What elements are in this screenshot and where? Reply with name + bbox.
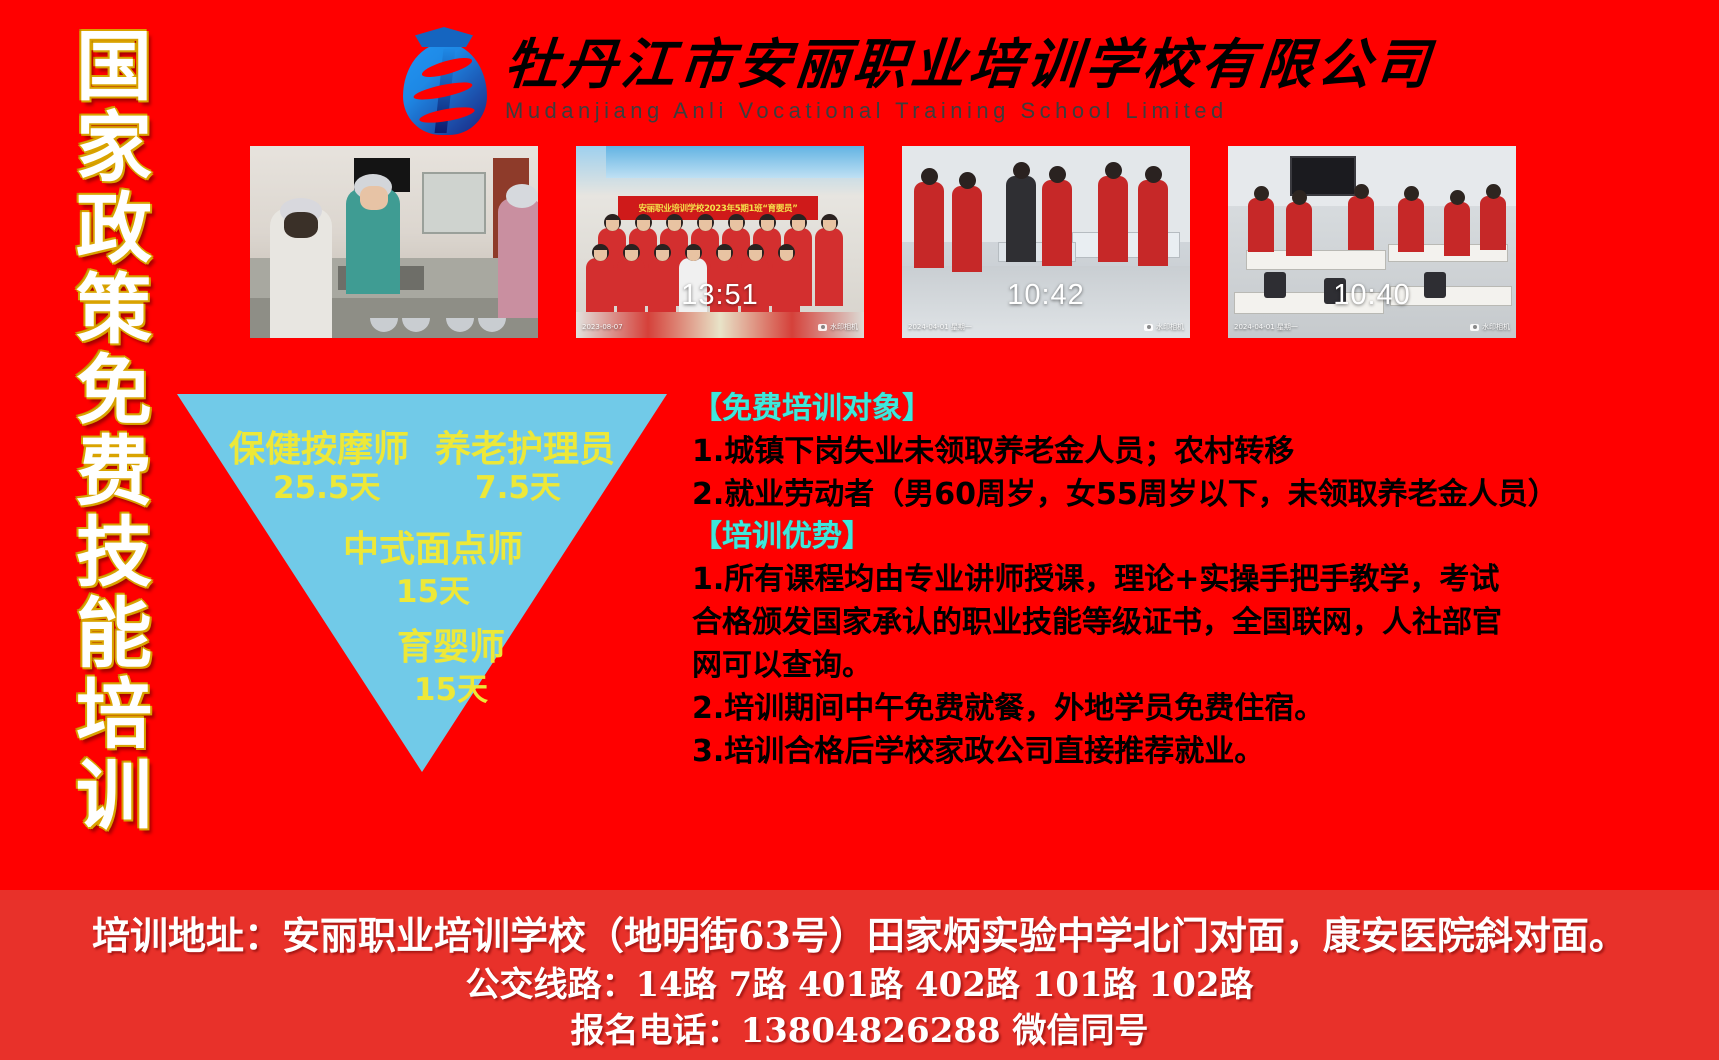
company-name-en: Mudanjiang Anli Vocational Training Scho… bbox=[505, 97, 1433, 125]
course-name-infantcare: 育婴师 bbox=[177, 618, 667, 670]
section-title-advantages: 【培训优势】 bbox=[692, 516, 1520, 558]
pastry-class-photo bbox=[250, 146, 538, 338]
info-column: 【免费培训对象】 1.城镇下岗失业未领取养老金人员；农村转移 2.就业劳动者（男… bbox=[692, 388, 1520, 773]
contact-footer: 培训地址：安丽职业培训学校（地明街63号）田家炳实验中学北门对面，康安医院斜对面… bbox=[0, 890, 1719, 1060]
course-days-pastry: 15天 bbox=[177, 566, 667, 611]
photo-strip: 安丽职业培训学校2023年5期1班“育婴员” 13:51 2023-08-07 … bbox=[250, 146, 1540, 338]
course-days-infantcare: 15天 bbox=[177, 664, 667, 709]
advantage-item-2: 2.培训期间中午免费就餐，外地学员免费住宿。 bbox=[692, 687, 1520, 730]
vertical-title-char: 能 bbox=[76, 593, 152, 674]
camera-icon bbox=[1144, 324, 1153, 331]
vertical-title-char: 家 bbox=[76, 107, 152, 188]
eligibility-item-1: 1.城镇下岗失业未领取养老金人员；农村转移 bbox=[692, 430, 1520, 473]
poster-root: 国 家 政 策 免 费 技 能 培 训 牡丹江市安丽职业培训学校有限公司 Mud… bbox=[0, 0, 1719, 1060]
photo-timestamp: 10:40 bbox=[1228, 279, 1516, 312]
course-triangle: 保健按摩师 养老护理员 25.5天 7.5天 中式面点师 15天 育婴师 15天 bbox=[177, 394, 667, 772]
vertical-title-char: 培 bbox=[76, 674, 152, 755]
graduation-cap-logo-icon bbox=[395, 23, 495, 135]
camera-icon bbox=[818, 324, 827, 331]
bus-routes: 公交线路：14路 7路 401路 402路 101路 102路 bbox=[0, 962, 1719, 1008]
vertical-title-char: 免 bbox=[76, 350, 152, 431]
advantage-item-1: 1.所有课程均由专业讲师授课，理论+实操手把手教学，考试合格颁发国家承认的职业技… bbox=[692, 558, 1520, 687]
photo-watermark: 2024-04-01 星期一 水印相机 bbox=[1234, 322, 1510, 332]
watermark-brand-block: 水印相机 bbox=[818, 322, 858, 332]
watermark-brand: 水印相机 bbox=[1482, 322, 1510, 332]
photo-watermark: 2024-04-01 星期一 水印相机 bbox=[908, 322, 1184, 332]
vertical-title-char: 政 bbox=[76, 188, 152, 269]
photo-timestamp: 10:42 bbox=[902, 279, 1190, 312]
course-days-massage: 25.5天 bbox=[273, 462, 381, 507]
enrollment-phone: 报名电话：13804826288 微信同号 bbox=[0, 1008, 1719, 1054]
vertical-title-char: 费 bbox=[76, 431, 152, 512]
course-name-pastry: 中式面点师 bbox=[177, 520, 667, 572]
camera-icon bbox=[1470, 324, 1479, 331]
nursing-practice-photo: 10:42 2024-04-01 星期一 水印相机 bbox=[902, 146, 1190, 338]
vertical-title: 国 家 政 策 免 费 技 能 培 训 bbox=[62, 26, 166, 756]
vertical-title-char: 国 bbox=[76, 26, 152, 107]
group-photo-2023-class: 安丽职业培训学校2023年5期1班“育婴员” 13:51 2023-08-07 … bbox=[576, 146, 864, 338]
course-row-top: 保健按摩师 养老护理员 bbox=[177, 420, 667, 472]
watermark-date: 2023-08-07 bbox=[582, 323, 623, 331]
classroom-lecture-photo: 10:40 2024-04-01 星期一 水印相机 bbox=[1228, 146, 1516, 338]
section-title-eligibility: 【免费培训对象】 bbox=[692, 388, 1520, 430]
header: 牡丹江市安丽职业培训学校有限公司 Mudanjiang Anli Vocatio… bbox=[395, 18, 1315, 140]
vertical-title-char: 技 bbox=[76, 512, 152, 593]
photo-watermark: 2023-08-07 水印相机 bbox=[582, 322, 858, 332]
watermark-brand-block: 水印相机 bbox=[1470, 322, 1510, 332]
vertical-title-char: 策 bbox=[76, 269, 152, 350]
triangle-text-layer: 保健按摩师 养老护理员 25.5天 7.5天 中式面点师 15天 育婴师 15天 bbox=[177, 394, 667, 772]
company-name-block: 牡丹江市安丽职业培训学校有限公司 Mudanjiang Anli Vocatio… bbox=[505, 33, 1433, 125]
watermark-date: 2024-04-01 星期一 bbox=[908, 322, 972, 332]
eligibility-item-2: 2.就业劳动者（男60周岁，女55周岁以下，未领取养老金人员） bbox=[692, 473, 1520, 516]
watermark-brand-block: 水印相机 bbox=[1144, 322, 1184, 332]
watermark-brand: 水印相机 bbox=[1156, 322, 1184, 332]
advantage-item-3: 3.培训合格后学校家政公司直接推荐就业。 bbox=[692, 730, 1520, 773]
watermark-brand: 水印相机 bbox=[830, 322, 858, 332]
photo-timestamp: 13:51 bbox=[576, 279, 864, 312]
course-days-eldercare: 7.5天 bbox=[475, 462, 561, 507]
company-name-cn: 牡丹江市安丽职业培训学校有限公司 bbox=[502, 33, 1435, 95]
vertical-title-char: 训 bbox=[76, 755, 152, 836]
watermark-date: 2024-04-01 星期一 bbox=[1234, 322, 1298, 332]
training-address: 培训地址：安丽职业培训学校（地明街63号）田家炳实验中学北门对面，康安医院斜对面… bbox=[0, 910, 1719, 962]
